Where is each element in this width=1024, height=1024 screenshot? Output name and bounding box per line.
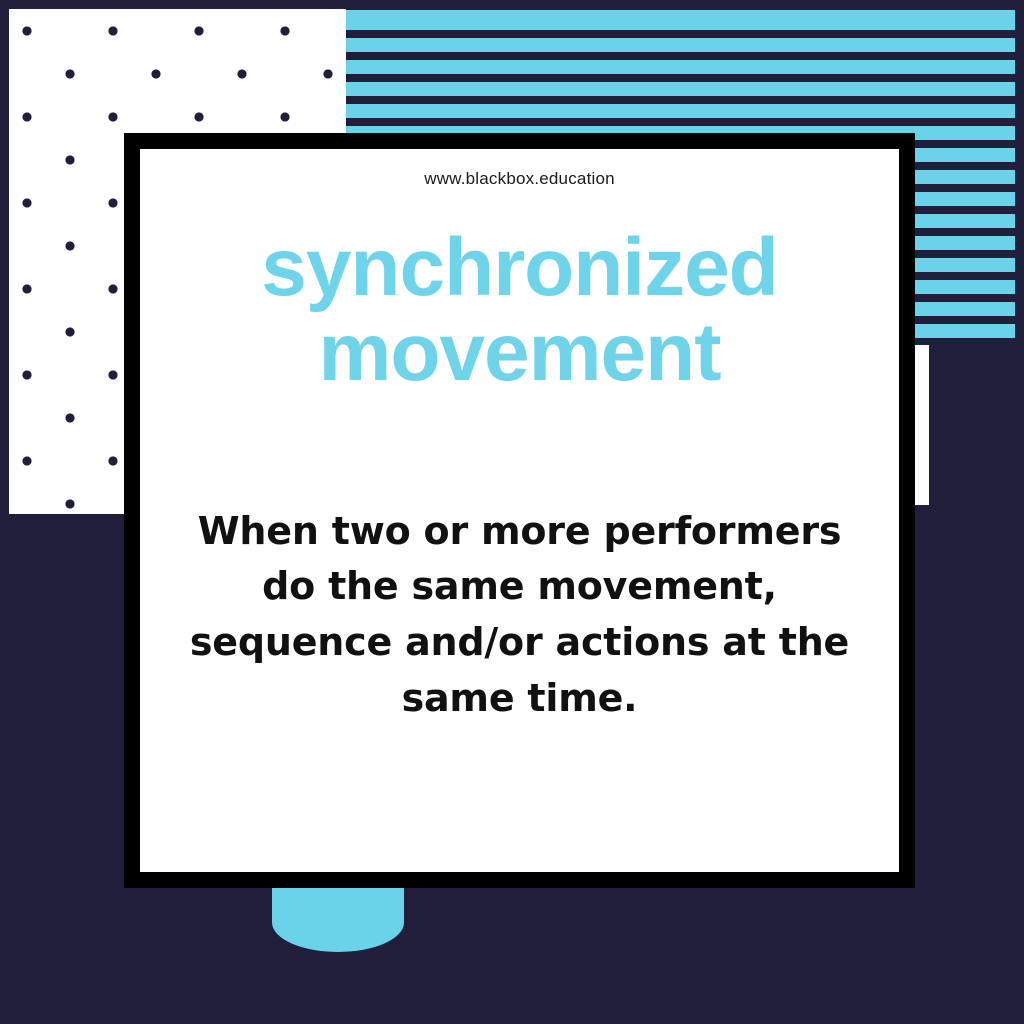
poster-canvas: www.blackbox.education synchronized move… (0, 0, 1024, 1024)
grid-lattice-pattern-right (929, 345, 1015, 515)
cyan-semicircle-accent (265, 886, 411, 959)
page-title: synchronized movement (140, 225, 899, 396)
definition-card: www.blackbox.education synchronized move… (124, 133, 915, 888)
term-definition-text: When two or more performers do the same … (140, 504, 899, 727)
site-url: www.blackbox.education (424, 169, 615, 189)
